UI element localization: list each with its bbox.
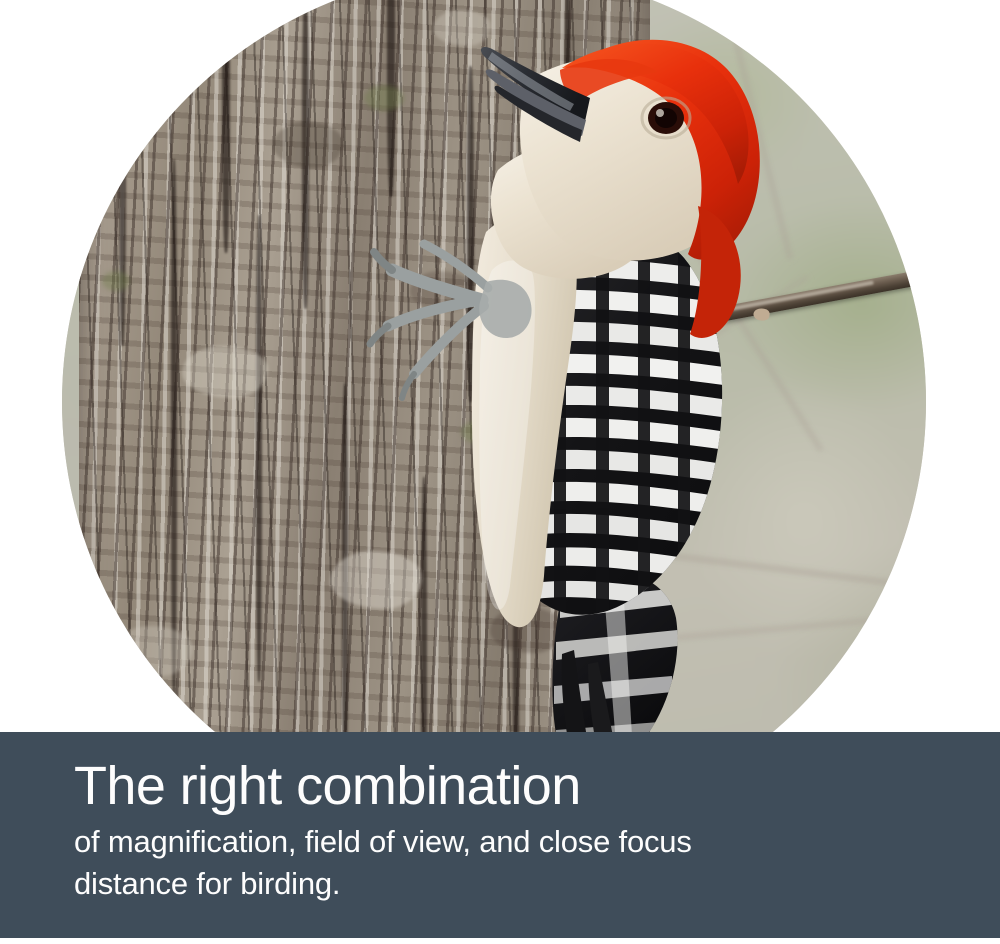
product-feature-card: The right combination of magnification, … [0, 0, 1000, 944]
caption-text-block: The right combination of magnification, … [74, 758, 960, 904]
hero-photo-circle [62, 0, 926, 834]
caption-headline: The right combination [74, 758, 960, 815]
red-bellied-woodpecker [62, 0, 926, 834]
hero-photo-content [62, 0, 926, 834]
caption-subline: of magnification, field of view, and clo… [74, 821, 694, 904]
bird-foot [370, 244, 488, 398]
caption-banner: The right combination of magnification, … [0, 732, 1000, 938]
